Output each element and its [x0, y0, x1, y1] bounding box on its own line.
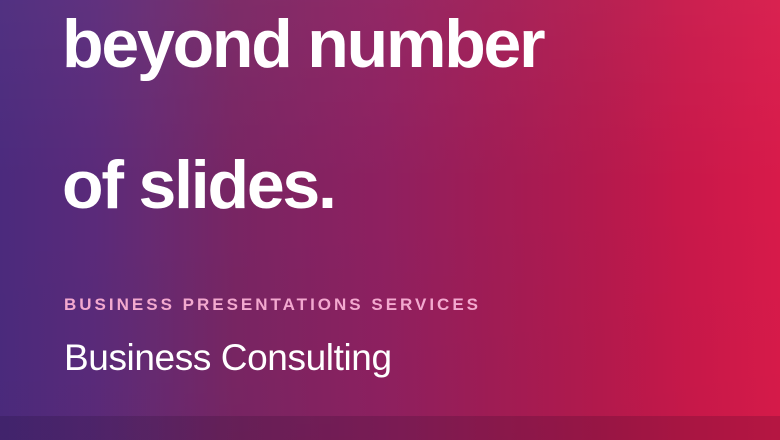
lower-text-block: BUSINESS PRESENTATIONS SERVICES Business… — [64, 296, 724, 376]
headline: beyond number of slides. — [62, 0, 762, 292]
headline-line-1: beyond number — [62, 9, 762, 80]
headline-line-2: of slides. — [62, 150, 762, 221]
eyebrow-label: BUSINESS PRESENTATIONS SERVICES — [64, 296, 724, 313]
page-title: Business Consulting — [64, 339, 724, 376]
promo-slide: beyond number of slides. BUSINESS PRESEN… — [0, 0, 780, 440]
